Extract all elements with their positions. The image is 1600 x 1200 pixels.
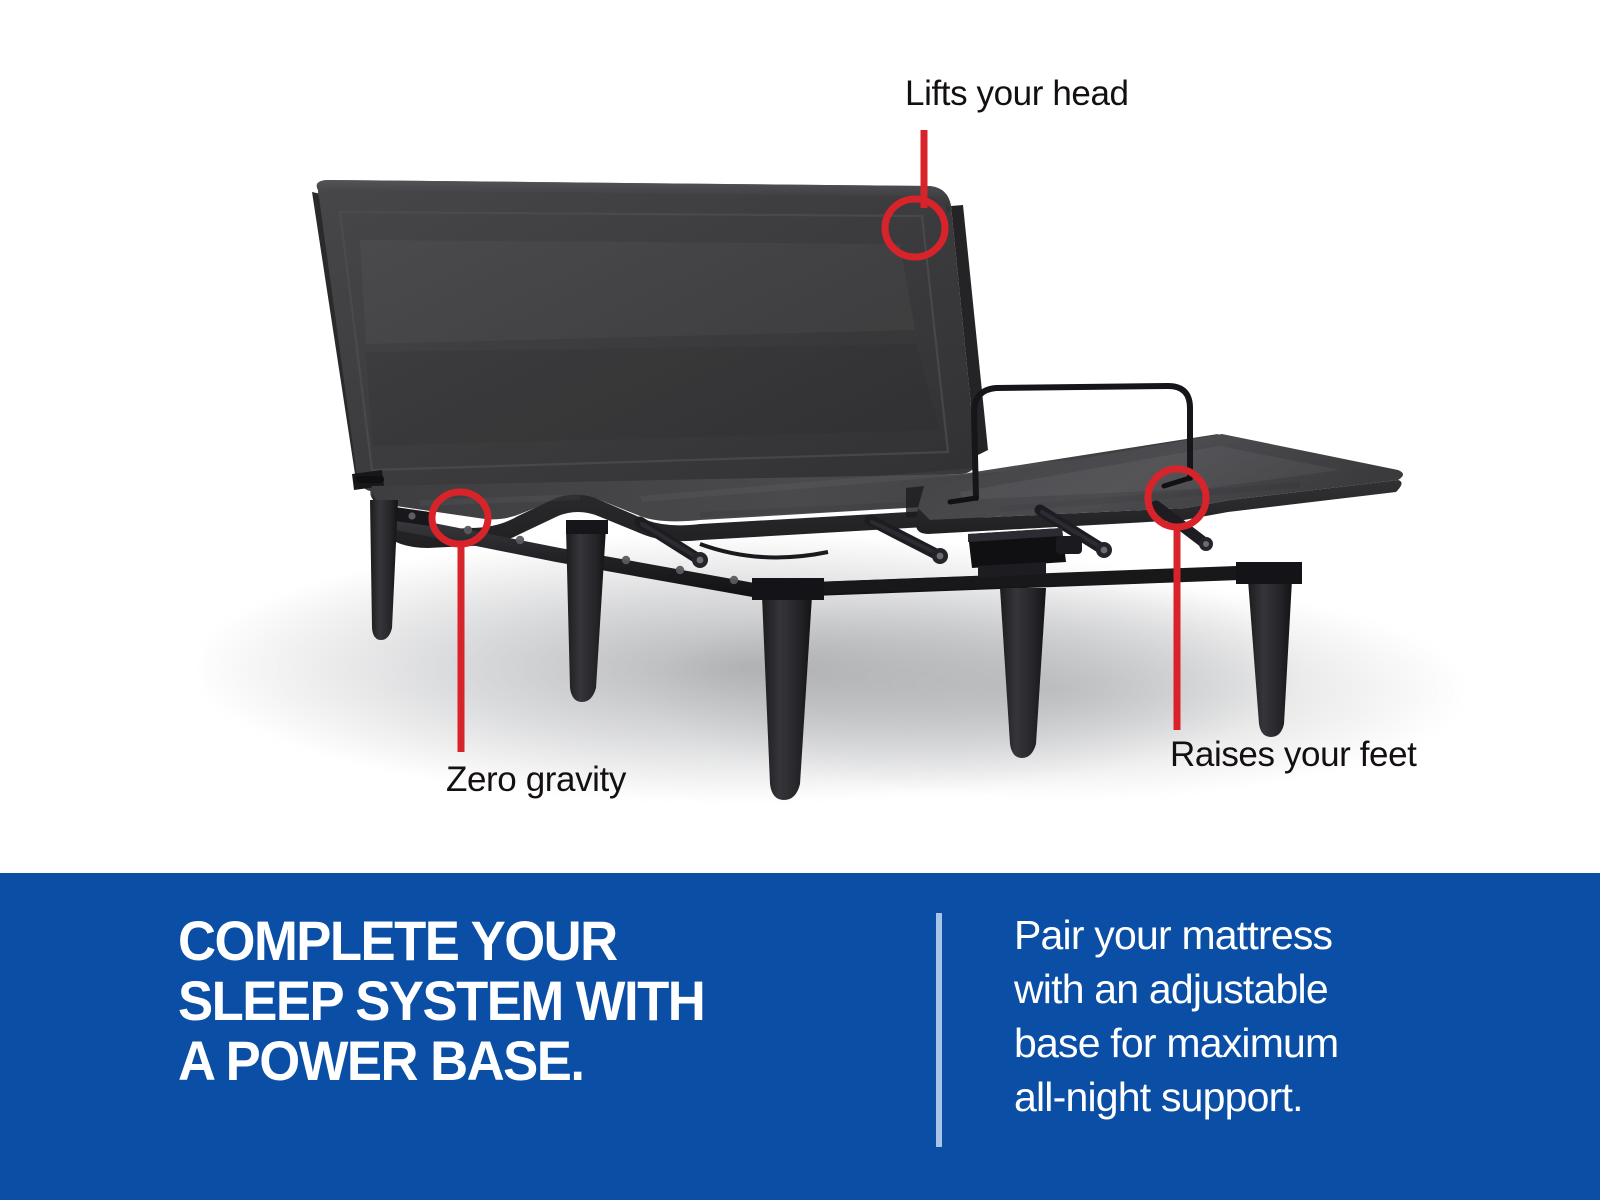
headline-line-1: COMPLETE YOUR — [178, 911, 836, 971]
product-photo: Lifts your head Zero gravity Raises your… — [0, 0, 1600, 873]
subcopy-line-2: with an adjustable — [1014, 962, 1434, 1016]
callout-lifts-head-marker — [885, 130, 945, 257]
callout-label-raises-feet: Raises your feet — [1170, 735, 1417, 775]
headline-line-2: SLEEP SYSTEM WITH — [178, 971, 836, 1031]
promo-banner: COMPLETE YOUR SLEEP SYSTEM WITH A POWER … — [0, 873, 1600, 1200]
banner-divider — [936, 913, 942, 1147]
subcopy-line-1: Pair your mattress — [1014, 908, 1434, 962]
callout-label-lifts-head: Lifts your head — [905, 74, 1129, 114]
promo-image: Lifts your head Zero gravity Raises your… — [0, 0, 1600, 1200]
subcopy-line-4: all-night support. — [1014, 1070, 1434, 1124]
callout-label-zero-gravity: Zero gravity — [446, 760, 626, 800]
banner-subcopy: Pair your mattress with an adjustable ba… — [1014, 908, 1434, 1124]
callout-raises-feet-marker — [1148, 469, 1206, 730]
callout-zero-gravity-marker — [432, 492, 488, 752]
banner-headline: COMPLETE YOUR SLEEP SYSTEM WITH A POWER … — [178, 911, 836, 1091]
subcopy-line-3: base for maximum — [1014, 1016, 1434, 1070]
headline-line-3: A POWER BASE. — [178, 1031, 836, 1091]
